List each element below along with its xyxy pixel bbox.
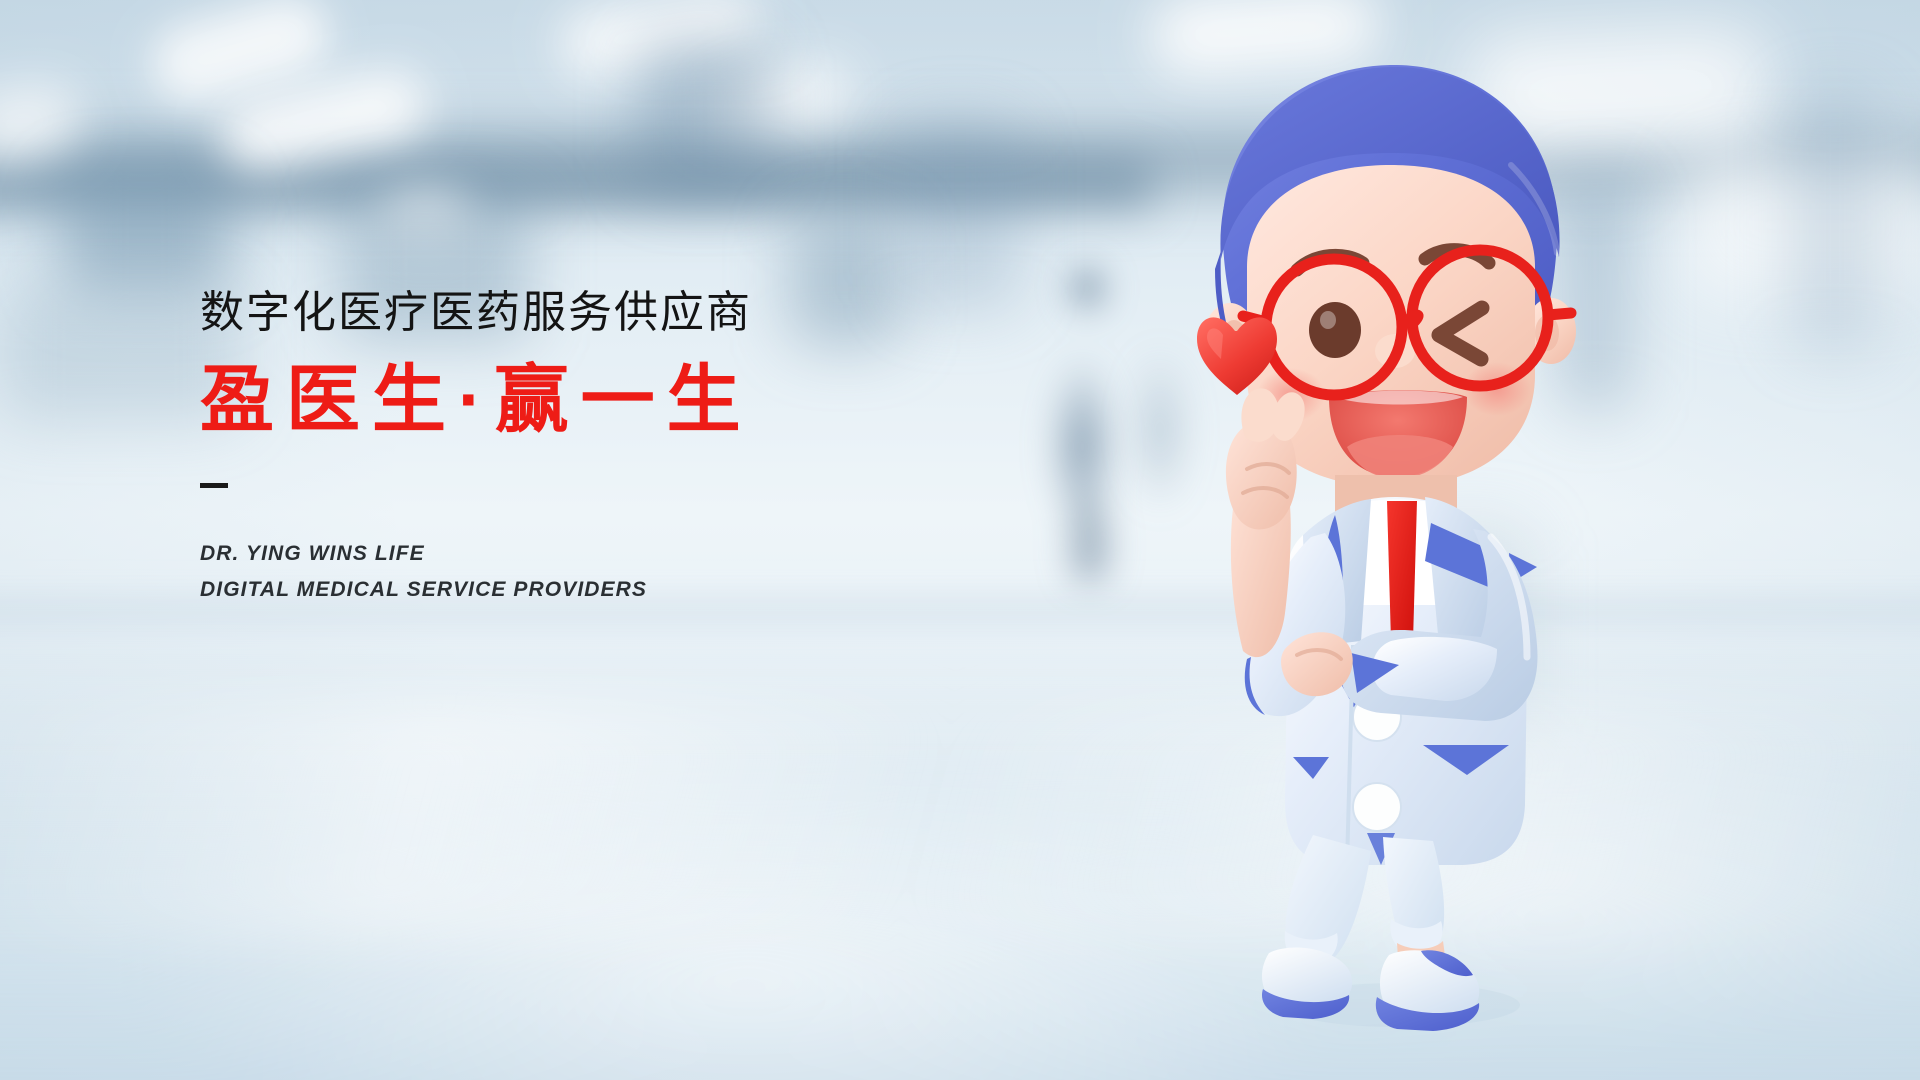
banner-headline-chinese: 盈医生·赢一生	[200, 361, 960, 439]
glasses-temple-right	[1548, 313, 1571, 315]
doctor-mascot-illustration	[1185, 45, 1605, 1045]
eye-left-open	[1309, 302, 1361, 358]
glasses-bridge	[1402, 315, 1418, 326]
eye-left-highlight	[1320, 311, 1336, 329]
banner-english-line-1: DR. YING WINS LIFE	[200, 536, 960, 572]
hand-finger-heart	[1226, 388, 1305, 529]
coat-button-bottom	[1353, 783, 1401, 831]
banner-english-block: DR. YING WINS LIFE DIGITAL MEDICAL SERVI…	[200, 536, 960, 608]
banner-subtitle-chinese: 数字化医疗医药服务供应商	[200, 287, 960, 339]
banner-copy: 数字化医疗医药服务供应商 盈医生·赢一生 DR. YING WINS LIFE …	[200, 287, 960, 608]
banner-english-line-2: DIGITAL MEDICAL SERVICE PROVIDERS	[200, 572, 960, 608]
necktie	[1387, 501, 1417, 641]
banner-stage: 数字化医疗医药服务供应商 盈医生·赢一生 DR. YING WINS LIFE …	[0, 0, 1920, 1080]
headline-divider-rule	[200, 483, 228, 488]
